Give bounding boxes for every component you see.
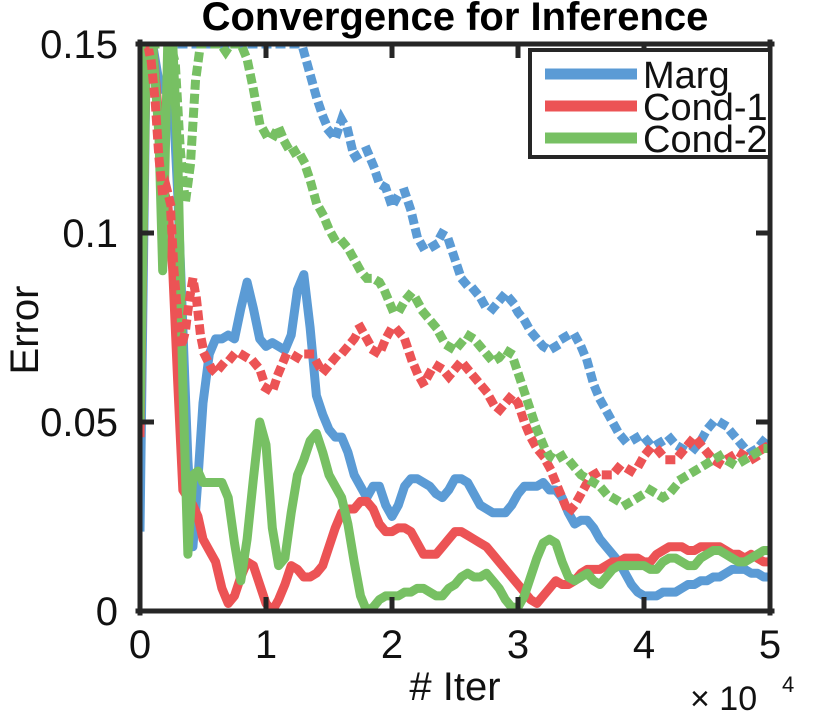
x-tick-label: 0 xyxy=(129,623,151,667)
x-tick-label: 1 xyxy=(255,623,277,667)
y-axis-label: Error xyxy=(3,286,47,375)
y-tick-label: 0.05 xyxy=(40,401,118,445)
x-tick-label: 4 xyxy=(633,623,655,667)
x-tick-label: 2 xyxy=(381,623,403,667)
chart-figure: Convergence for Inference 01234500.050.1… xyxy=(0,0,830,722)
x-axis-exponent-power: 4 xyxy=(782,672,794,697)
chart-legend[interactable]: MargCond-1Cond-2 xyxy=(530,50,770,161)
y-tick-label: 0 xyxy=(96,590,118,634)
x-axis-exponent: × 10 xyxy=(690,680,757,718)
chart-title: Convergence for Inference xyxy=(202,0,709,39)
y-tick-label: 0.15 xyxy=(40,23,118,67)
x-tick-label: 5 xyxy=(759,623,781,667)
legend-label-cond-2: Cond-2 xyxy=(643,119,768,161)
x-tick-label: 3 xyxy=(507,623,529,667)
x-axis-label: # Iter xyxy=(409,665,500,709)
convergence-chart: Convergence for Inference 01234500.050.1… xyxy=(0,0,830,722)
y-tick-label: 0.1 xyxy=(62,212,118,256)
